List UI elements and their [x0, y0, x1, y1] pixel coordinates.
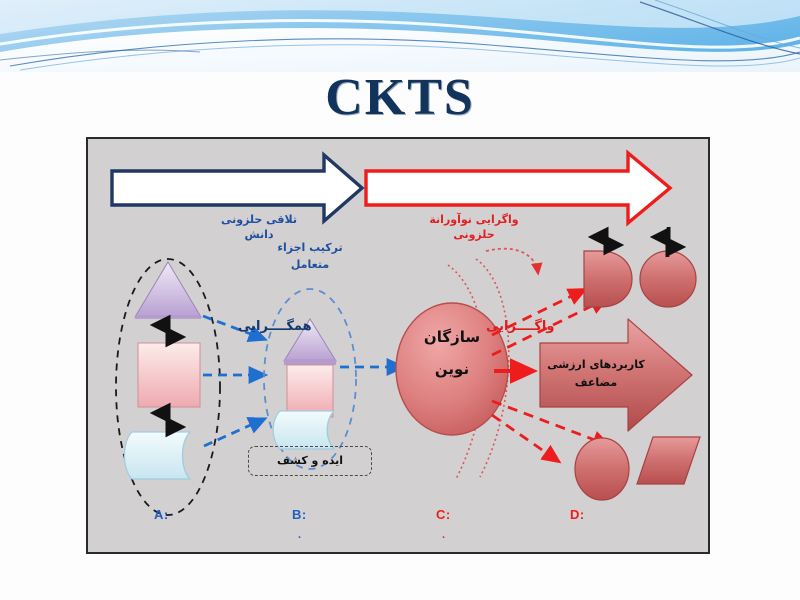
idea-discovery-label: ایده و کشف: [249, 447, 371, 475]
slide-canvas: CKTS: [0, 0, 800, 600]
convergence-arrow-label: همگــــرایی: [238, 319, 312, 334]
knowledge-cylinder-shape: [125, 432, 191, 479]
ckts-diagram: همگــــرایی واگــــرایی تلاقی حلزونی دان…: [86, 137, 710, 554]
group-d-label: D:: [570, 507, 585, 522]
convergence-sublabel-line1: تلاقی حلزونی: [200, 213, 318, 227]
new-system-line2: نوین: [394, 358, 510, 381]
group-a-label: A:: [154, 507, 169, 522]
divergence-sublabel-line2: حلزونی: [404, 228, 544, 242]
output-circle-shape: [640, 251, 696, 307]
new-system-line1: سازگان: [394, 326, 510, 349]
knowledge-square-shape: [138, 343, 200, 407]
value-arrow-line1: کاربردهای ارزشی: [540, 357, 652, 373]
page-title: CKTS: [0, 68, 800, 127]
group-c-label: C:: [436, 507, 451, 522]
convergence-arrow-shape: [112, 155, 362, 221]
top-hook-arrow: [486, 249, 538, 273]
convergence-sublabel-line2: دانش: [200, 228, 318, 242]
group-b-dot: .: [298, 529, 301, 541]
knowledge-triangle-shape: [135, 262, 201, 319]
idea-discovery-box: ایده و کشف: [248, 446, 372, 476]
output-parallelogram-shape: [637, 437, 700, 484]
combination-label-line2: متعامل: [250, 258, 370, 273]
combined-shape-stack-shape: [273, 319, 336, 449]
banner-waves-graphic: [0, 0, 800, 72]
divergence-sublabel-line1: واگرایی نوآورانة: [404, 213, 544, 227]
group-c-dot: .: [442, 529, 445, 541]
decorative-banner: [0, 0, 800, 72]
group-b-label: B:: [292, 507, 307, 522]
value-arrow-line2: مضاعف: [540, 375, 652, 391]
output-d-shape-shape: [584, 251, 632, 307]
a-to-b-arrows: [203, 316, 264, 446]
output-ellipse-shape: [575, 438, 629, 500]
combination-label-line1: ترکیب اجزاء: [250, 241, 370, 256]
